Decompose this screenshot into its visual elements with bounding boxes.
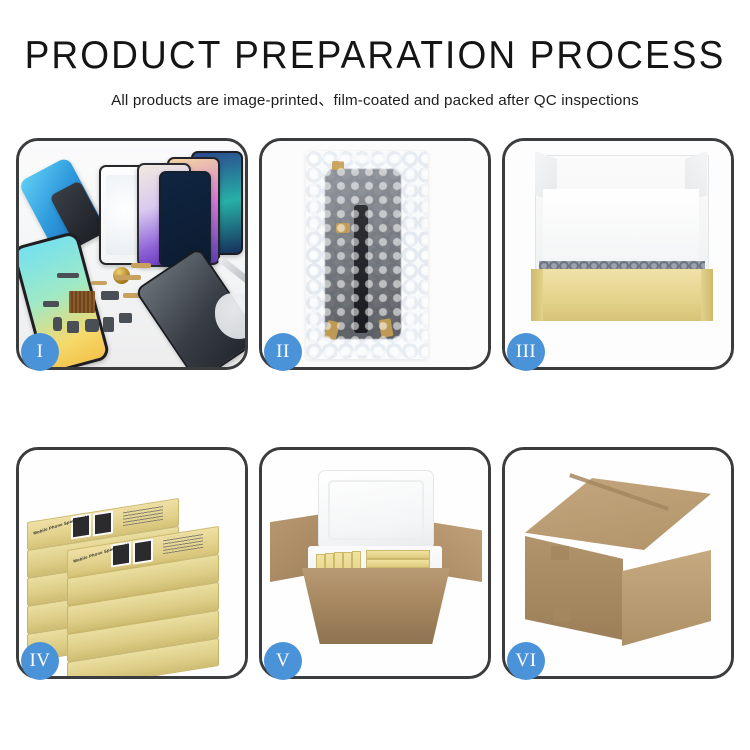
tray-edge-right: [701, 269, 713, 321]
tape-piece-1: [332, 161, 344, 170]
step-5-image: [262, 450, 488, 676]
process-steps-grid: I II: [16, 138, 734, 679]
step-2-image: [262, 141, 488, 367]
step-badge-4: IV: [21, 642, 59, 680]
yellow-box-7: [366, 559, 430, 568]
small-part-8: [101, 291, 119, 300]
step-badge-3: III: [507, 333, 545, 371]
small-part-3: [67, 321, 79, 333]
small-part-4: [85, 319, 99, 332]
carton-tape-tab-bottom: [553, 608, 571, 622]
flex-cable-2: [131, 263, 151, 268]
step-badge-5: V: [264, 642, 302, 680]
step-panel-1: I: [16, 138, 248, 370]
flex-cable-1: [115, 275, 141, 280]
step-panel-2: II: [259, 138, 491, 370]
small-part-2: [53, 317, 62, 331]
yellow-box-6: [366, 550, 430, 559]
small-part-1: [57, 273, 79, 278]
page-title: PRODUCT PREPARATION PROCESS: [19, 36, 732, 75]
small-part-6: [119, 313, 132, 323]
step-6-image: [505, 450, 731, 676]
header: PRODUCT PREPARATION PROCESS All products…: [0, 0, 750, 110]
small-part-7: [43, 301, 59, 307]
step-panel-4: Mobile Phone Spare Parts Mobile Phone Sp…: [16, 447, 248, 679]
carton-tape-tab-top: [551, 546, 569, 560]
step-4-image: Mobile Phone Spare Parts Mobile Phone Sp…: [19, 450, 245, 676]
small-part-5: [103, 317, 114, 332]
step-1-image: [19, 141, 245, 367]
step-panel-6: VI: [502, 447, 734, 679]
box-window-front-2: [133, 538, 153, 564]
product-preparation-infographic: PRODUCT PREPARATION PROCESS All products…: [0, 0, 750, 750]
step-panel-3: III: [502, 138, 734, 370]
box-window-back-2: [93, 510, 113, 536]
box-stack: Mobile Phone Spare Parts Mobile Phone Sp…: [27, 472, 241, 662]
carton-body: [302, 568, 450, 644]
step-badge-6: VI: [507, 642, 545, 680]
wrapped-part-strip: [354, 205, 368, 333]
step-badge-1: I: [21, 333, 59, 371]
carton-front-face: [525, 536, 623, 640]
page-subtitle: All products are image-printed、film-coat…: [0, 88, 750, 110]
foam-lid: [318, 470, 434, 550]
carton-side-face: [622, 550, 711, 646]
chip-part: [69, 291, 95, 313]
flex-cable-4: [91, 281, 107, 285]
step-panel-5: V: [259, 447, 491, 679]
tape-piece-2: [336, 223, 350, 233]
step-3-image: [505, 141, 731, 367]
kraft-box-tray: [531, 269, 713, 321]
step-badge-2: II: [264, 333, 302, 371]
tray-edge-left: [531, 269, 543, 321]
